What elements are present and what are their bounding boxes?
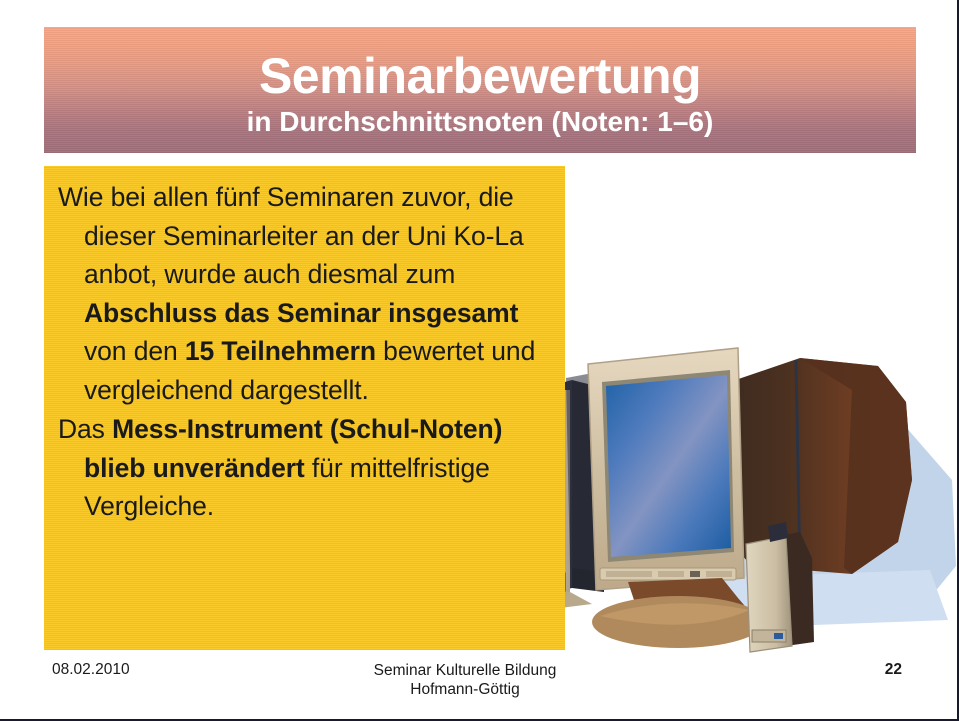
- slide-content-box: Wie bei allen fünf Seminaren zuvor, die …: [44, 166, 565, 650]
- footer-title: Seminar Kulturelle Bildung Hofmann-Götti…: [0, 661, 930, 699]
- slide-title-banner: Seminarbewertung in Durchschnittsnoten (…: [44, 27, 916, 153]
- desktop-computer-illustration: [500, 330, 959, 660]
- para2-run1: Das: [58, 414, 112, 444]
- para1-run2: Abschluss das Seminar insgesamt: [84, 298, 518, 328]
- speaker-right: [746, 522, 814, 652]
- para1-run1: Wie bei allen fünf Seminaren zuvor, die …: [58, 182, 524, 289]
- footer-page-number: 22: [885, 661, 902, 679]
- presentation-slide: Seminarbewertung in Durchschnittsnoten (…: [0, 0, 959, 721]
- body-paragraph-2: Das Mess-Instrument (Schul-Noten) blieb …: [58, 410, 551, 526]
- footer-title-line-1: Seminar Kulturelle Bildung: [0, 661, 930, 680]
- footer-title-line-2: Hofmann-Göttig: [0, 680, 930, 699]
- page-subtitle: in Durchschnittsnoten (Noten: 1–6): [44, 103, 916, 139]
- slide-footer: 08.02.2010 Seminar Kulturelle Bildung Ho…: [0, 657, 930, 717]
- body-paragraph-1: Wie bei allen fünf Seminaren zuvor, die …: [58, 178, 551, 409]
- page-title: Seminarbewertung: [44, 27, 916, 103]
- para1-run3: von den: [84, 336, 185, 366]
- para1-run4: 15 Teilnehmern: [185, 336, 376, 366]
